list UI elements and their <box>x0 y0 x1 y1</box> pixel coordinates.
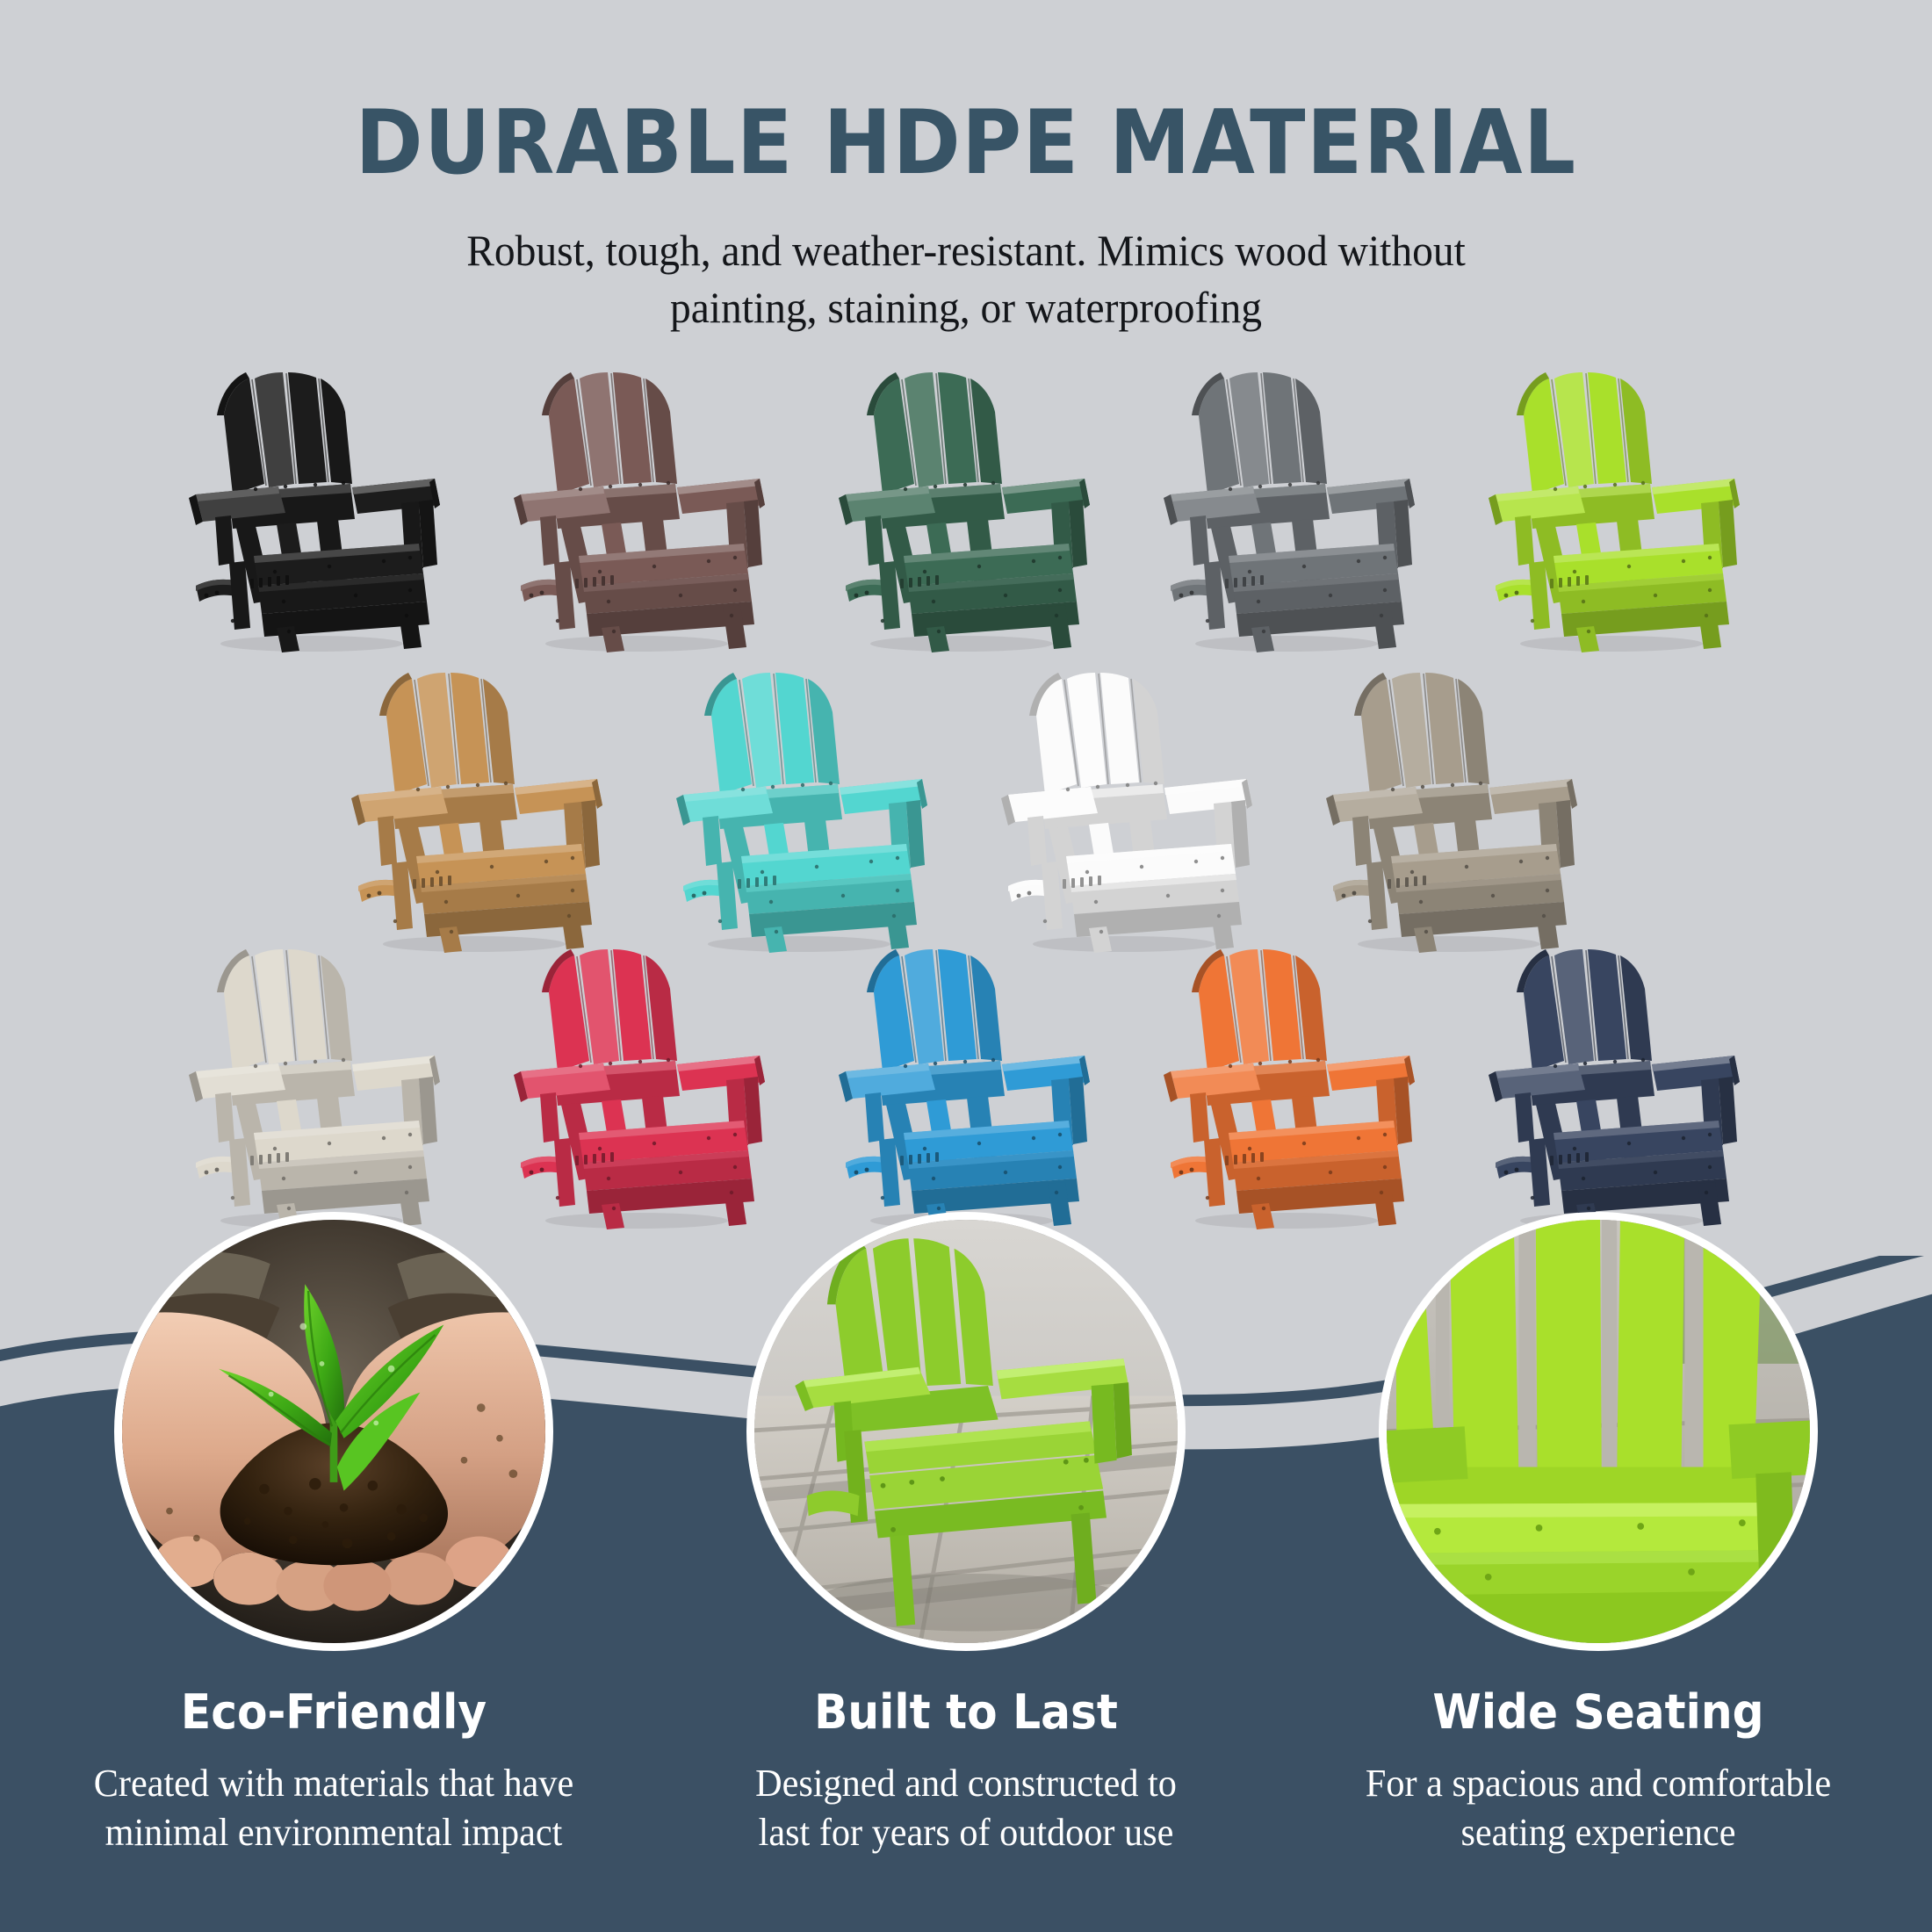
chair-swatch-black[interactable] <box>154 364 479 654</box>
chair-turquoise <box>667 665 940 955</box>
chair-navy <box>1480 941 1752 1231</box>
feature-image-wide-seating <box>1379 1212 1818 1651</box>
page-subtitle: Robust, tough, and weather-resistant. Mi… <box>48 222 1884 336</box>
chair-gray <box>1155 364 1427 654</box>
chair-teak <box>342 665 615 955</box>
chair-swatch-orange[interactable] <box>1128 941 1453 1231</box>
feature-title: Wide Seating <box>1304 1684 1892 1740</box>
product-infographic-poster: DURABLE HDPE MATERIAL Robust, tough, and… <box>0 0 1932 1932</box>
chair-dark-green <box>830 364 1102 654</box>
chair-orange <box>1155 941 1427 1231</box>
chair-black <box>180 364 452 654</box>
chair-swatch-red[interactable] <box>479 941 804 1231</box>
chair-swatch-dark-green[interactable] <box>804 364 1128 654</box>
chair-white <box>992 665 1265 955</box>
feature-desc-line-1: Designed and constructed to <box>662 1759 1269 1808</box>
chair-swatch-teak[interactable] <box>316 665 641 955</box>
chair-swatch-weathered-wood[interactable] <box>1291 665 1616 955</box>
chair-blue <box>830 941 1102 1231</box>
feature-desc-line-1: Created with materials that have <box>30 1759 637 1808</box>
feature-desc-line-2: last for years of outdoor use <box>662 1808 1269 1857</box>
chair-ivory <box>180 941 452 1231</box>
subtitle-line-2: painting, staining, or waterproofing <box>48 279 1884 336</box>
chair-swatch-white[interactable] <box>966 665 1291 955</box>
feature-title: Built to Last <box>672 1684 1260 1740</box>
chair-swatch-turquoise[interactable] <box>641 665 966 955</box>
feature-description: Designed and constructed to last for yea… <box>662 1759 1269 1858</box>
chair-row-1 <box>0 364 1932 654</box>
feature-image-built-to-last <box>746 1212 1186 1651</box>
feature-section: Eco-Friendly Created with materials that… <box>0 1212 1932 1858</box>
feature-built-to-last: Built to Last Designed and constructed t… <box>650 1212 1282 1858</box>
feature-description: Created with materials that have minimal… <box>30 1759 637 1858</box>
chair-swatch-blue[interactable] <box>804 941 1128 1231</box>
feature-image-eco-friendly <box>114 1212 553 1651</box>
chair-swatch-ivory[interactable] <box>154 941 479 1231</box>
chair-brown <box>505 364 777 654</box>
chair-red <box>505 941 777 1231</box>
feature-desc-line-2: minimal environmental impact <box>30 1808 637 1857</box>
subtitle-line-1: Robust, tough, and weather-resistant. Mi… <box>48 222 1884 279</box>
chair-swatch-navy[interactable] <box>1453 941 1778 1231</box>
feature-description: For a spacious and comfortable seating e… <box>1294 1759 1901 1858</box>
chair-row-2 <box>0 665 1932 955</box>
chair-weathered-wood <box>1317 665 1590 955</box>
header: DURABLE HDPE MATERIAL Robust, tough, and… <box>0 0 1932 336</box>
chair-row-3 <box>0 941 1932 1231</box>
feature-wide-seating: Wide Seating For a spacious and comforta… <box>1282 1212 1914 1858</box>
chair-swatch-brown[interactable] <box>479 364 804 654</box>
feature-desc-line-1: For a spacious and comfortable <box>1294 1759 1901 1808</box>
feature-desc-line-2: seating experience <box>1294 1808 1901 1857</box>
chair-swatch-gray[interactable] <box>1128 364 1453 654</box>
page-title: DURABLE HDPE MATERIAL <box>77 98 1855 187</box>
feature-title: Eco-Friendly <box>40 1684 628 1740</box>
chair-swatch-lime-green[interactable] <box>1453 364 1778 654</box>
feature-eco-friendly: Eco-Friendly Created with materials that… <box>18 1212 650 1858</box>
chair-lime-green <box>1480 364 1752 654</box>
